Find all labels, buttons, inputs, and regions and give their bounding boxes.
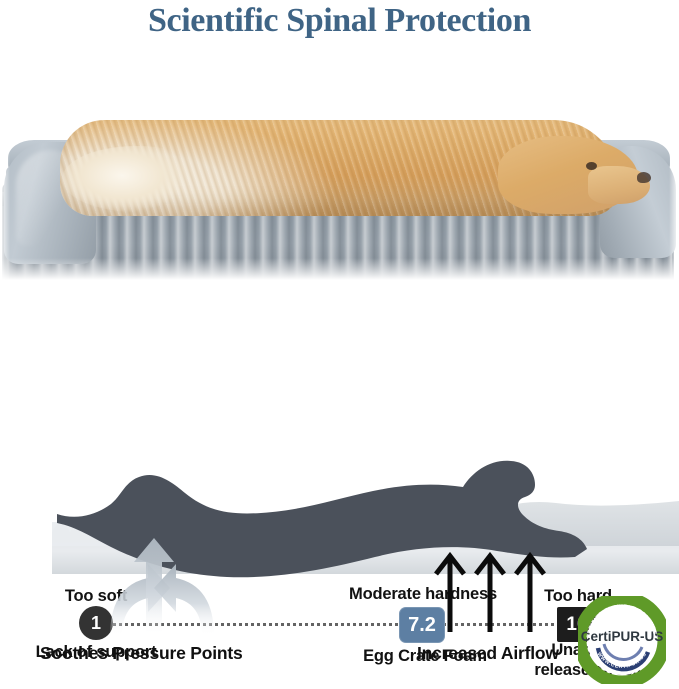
product-photo	[0, 62, 679, 280]
airflow-arrow-3	[516, 556, 544, 632]
airflow-arrow-1	[436, 556, 464, 632]
caption-increased-airflow: Increased Airflow	[417, 643, 559, 664]
caption-soothes-pressure-points: Soothes Pressure Points	[40, 643, 243, 664]
golden-retriever-nose	[637, 172, 651, 183]
page-title: Scientific Spinal Protection	[0, 2, 679, 40]
golden-retriever-chest	[62, 146, 212, 212]
certipur-us-logo: CertiPUR-US CONTAINS CERTIFIED FLEXIBLE …	[578, 596, 666, 684]
product-infographic: Scientific Spinal Protection Too soft 1 …	[0, 0, 679, 686]
airflow-arrow-2	[476, 556, 504, 632]
hardness-scale: Too soft 1 Lack of support Moderate hard…	[0, 290, 679, 390]
airflow-arrows	[436, 556, 544, 632]
golden-retriever-eye	[586, 162, 597, 170]
